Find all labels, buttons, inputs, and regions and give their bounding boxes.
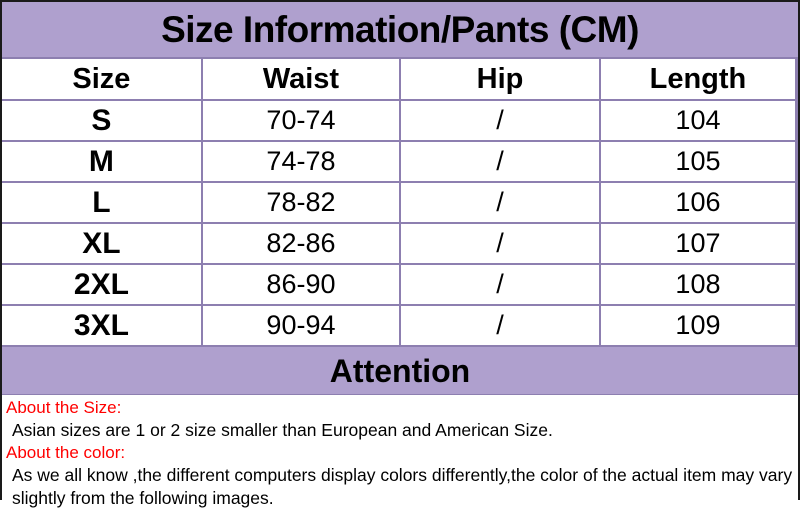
notes-section: About the Size: Asian sizes are 1 or 2 s… — [2, 395, 798, 510]
table-row: M 74-78 / 105 — [2, 141, 795, 182]
table-row: 3XL 90-94 / 109 — [2, 305, 795, 345]
cell-length: 104 — [600, 100, 795, 141]
cell-hip: / — [400, 100, 600, 141]
cell-length: 108 — [600, 264, 795, 305]
cell-waist: 82-86 — [202, 223, 400, 264]
title-band: Size Information/Pants (CM) — [2, 2, 798, 59]
cell-waist: 74-78 — [202, 141, 400, 182]
table-header-row: Size Waist Hip Length — [2, 59, 795, 100]
cell-size: S — [2, 100, 202, 141]
table-row: 2XL 86-90 / 108 — [2, 264, 795, 305]
about-color-body: As we all know ,the different computers … — [6, 464, 794, 510]
about-size-label: About the Size: — [6, 397, 794, 419]
column-header-hip: Hip — [400, 59, 600, 100]
cell-length: 109 — [600, 305, 795, 345]
attention-band: Attention — [2, 345, 798, 395]
cell-waist: 90-94 — [202, 305, 400, 345]
cell-size: 3XL — [2, 305, 202, 345]
table-row: XL 82-86 / 107 — [2, 223, 795, 264]
cell-waist: 78-82 — [202, 182, 400, 223]
cell-size: 2XL — [2, 264, 202, 305]
column-header-length: Length — [600, 59, 795, 100]
size-chart-card: Size Information/Pants (CM) Size Waist H… — [0, 0, 800, 500]
size-table-container: Size Waist Hip Length S 70-74 / 104 M 74… — [2, 59, 798, 345]
about-size-body: Asian sizes are 1 or 2 size smaller than… — [6, 419, 794, 442]
cell-size: M — [2, 141, 202, 182]
cell-length: 105 — [600, 141, 795, 182]
column-header-size: Size — [2, 59, 202, 100]
table-row: L 78-82 / 106 — [2, 182, 795, 223]
cell-size: XL — [2, 223, 202, 264]
cell-hip: / — [400, 223, 600, 264]
cell-waist: 86-90 — [202, 264, 400, 305]
cell-length: 107 — [600, 223, 795, 264]
about-color-label: About the color: — [6, 442, 794, 464]
cell-length: 106 — [600, 182, 795, 223]
cell-waist: 70-74 — [202, 100, 400, 141]
column-header-waist: Waist — [202, 59, 400, 100]
cell-size: L — [2, 182, 202, 223]
page-title: Size Information/Pants (CM) — [161, 11, 639, 48]
table-row: S 70-74 / 104 — [2, 100, 795, 141]
cell-hip: / — [400, 264, 600, 305]
attention-heading: Attention — [330, 355, 470, 387]
cell-hip: / — [400, 305, 600, 345]
cell-hip: / — [400, 141, 600, 182]
cell-hip: / — [400, 182, 600, 223]
size-table: Size Waist Hip Length S 70-74 / 104 M 74… — [2, 59, 795, 345]
